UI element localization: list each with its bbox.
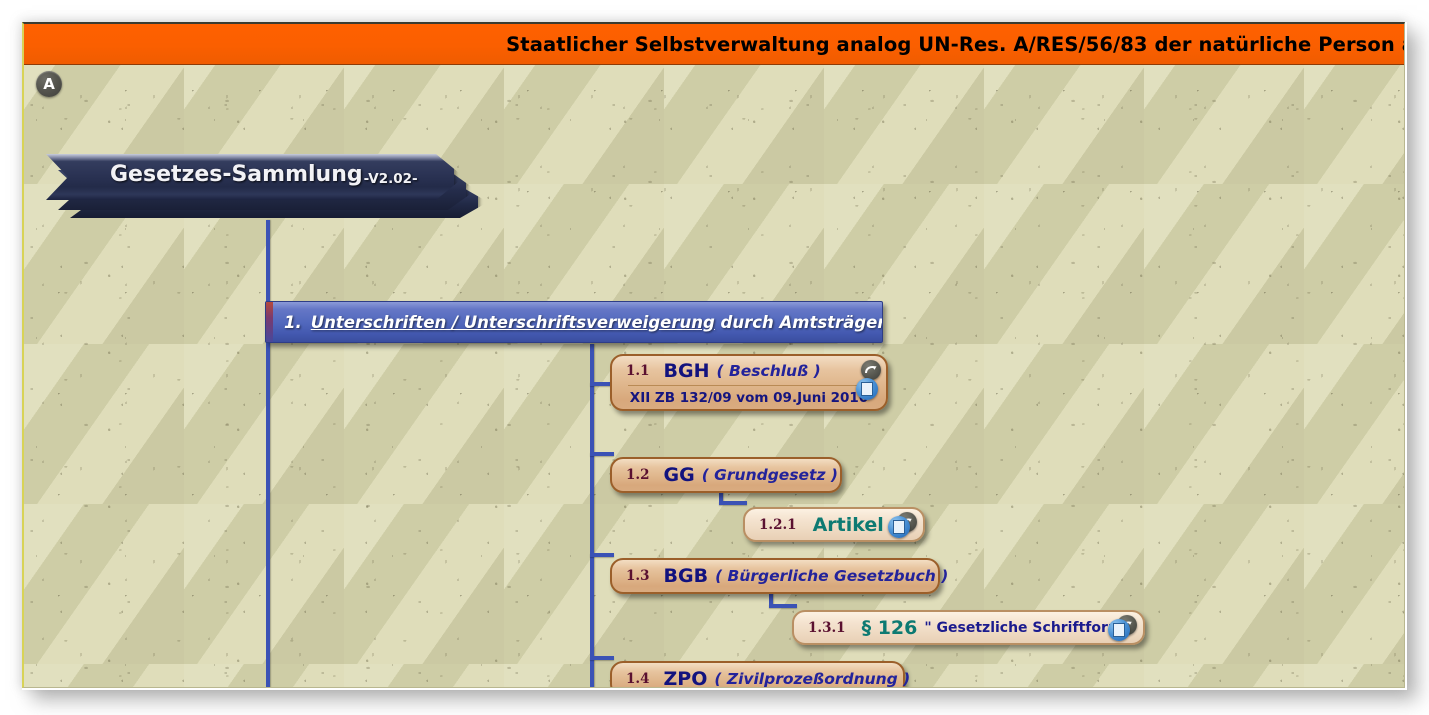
node-13-bgb[interactable]: 1.3 BGB ( Bürgerliche Gesetzbuch ) bbox=[610, 558, 940, 594]
node-12-paren: ( Grundgesetz ) bbox=[702, 466, 838, 484]
window-title: Staatlicher Selbstverwaltung analog UN-R… bbox=[506, 33, 1405, 56]
node-121-number: 1.2.1 bbox=[759, 517, 797, 533]
root-node-label: Gesetzes-Sammlung-V2.02- bbox=[110, 162, 418, 187]
note-page-glyph bbox=[1113, 623, 1125, 637]
mindmap-canvas[interactable]: Staatlicher Selbstverwaltung analog UN-R… bbox=[22, 22, 1405, 688]
connector-root-trunk bbox=[266, 220, 270, 688]
connector-to-node-13 bbox=[590, 553, 614, 557]
node-131-paragraph-126[interactable]: 1.3.1 § 126 " Gesetzliche Schriftform " bbox=[792, 610, 1145, 645]
node-13-abbr: BGB bbox=[664, 565, 709, 587]
node-11-abbr: BGH bbox=[664, 360, 710, 382]
node-1-number: 1. bbox=[284, 313, 302, 332]
node-12-number: 1.2 bbox=[626, 467, 650, 483]
node-12-headline: 1.2 GG ( Grundgesetz ) bbox=[612, 464, 840, 486]
node-11-divider bbox=[628, 385, 870, 386]
note-document-icon[interactable] bbox=[888, 516, 910, 538]
node-14-zpo[interactable]: 1.4 ZPO ( Zivilprozeßordnung ) bbox=[610, 661, 905, 688]
connector-to-node-14 bbox=[590, 656, 614, 660]
window-titlebar: Staatlicher Selbstverwaltung analog UN-R… bbox=[24, 24, 1405, 65]
node-13-number: 1.3 bbox=[626, 568, 650, 584]
corner-badge-a[interactable]: A bbox=[36, 71, 62, 97]
note-document-icon[interactable] bbox=[856, 378, 878, 400]
node-12-abbr: GG bbox=[664, 464, 695, 486]
node-14-paren: ( Zivilprozeßordnung ) bbox=[714, 670, 910, 688]
node-131-headline: 1.3.1 § 126 " Gesetzliche Schriftform " bbox=[794, 617, 1143, 639]
note-page-glyph bbox=[893, 520, 905, 534]
node-14-headline: 1.4 ZPO ( Zivilprozeßordnung ) bbox=[612, 668, 903, 688]
connector-to-node-121 bbox=[719, 501, 747, 505]
node-14-number: 1.4 bbox=[626, 671, 650, 687]
node-1-label-plain: durch Amtsträger bbox=[715, 313, 883, 332]
jump-arrow-icon[interactable] bbox=[861, 360, 881, 380]
note-document-icon[interactable] bbox=[1108, 619, 1130, 641]
note-page-glyph bbox=[861, 382, 873, 396]
node-1-label-underlined: Unterschriften / Unterschriftsverweigeru… bbox=[311, 313, 715, 332]
node-121-artikel-1[interactable]: 1.2.1 Artikel 1 bbox=[743, 507, 925, 542]
node-1-label: Unterschriften / Unterschriftsverweigeru… bbox=[311, 313, 883, 332]
node-13-headline: 1.3 BGB ( Bürgerliche Gesetzbuch ) bbox=[612, 565, 938, 587]
node-1-unterschriften[interactable]: 1. Unterschriften / Unterschriftsverweig… bbox=[265, 301, 883, 343]
connector-to-node-131 bbox=[769, 604, 797, 608]
root-version-text: -V2.02- bbox=[364, 171, 418, 187]
node-131-quoted-title: " Gesetzliche Schriftform " bbox=[924, 620, 1134, 636]
connector-level1-trunk bbox=[590, 344, 594, 688]
root-title-text: Gesetzes-Sammlung bbox=[110, 162, 363, 187]
node-11-bgh[interactable]: 1.1 BGH ( Beschluß ) XII ZB 132/09 vom 0… bbox=[610, 354, 888, 411]
node-13-paren: ( Bürgerliche Gesetzbuch ) bbox=[715, 567, 948, 585]
node-131-paragraph: § 126 bbox=[862, 617, 918, 639]
node-11-subtitle: XII ZB 132/09 vom 09.Juni 2010 bbox=[612, 390, 886, 406]
connector-to-node-12 bbox=[590, 452, 614, 456]
node-11-paren: ( Beschluß ) bbox=[716, 362, 820, 380]
node-12-gg[interactable]: 1.2 GG ( Grundgesetz ) bbox=[610, 457, 842, 493]
node-14-abbr: ZPO bbox=[664, 668, 708, 688]
application-window: Staatlicher Selbstverwaltung analog UN-R… bbox=[0, 0, 1429, 715]
node-131-number: 1.3.1 bbox=[808, 620, 846, 636]
node-11-number: 1.1 bbox=[626, 363, 650, 379]
node-11-headline: 1.1 BGH ( Beschluß ) bbox=[612, 360, 886, 382]
